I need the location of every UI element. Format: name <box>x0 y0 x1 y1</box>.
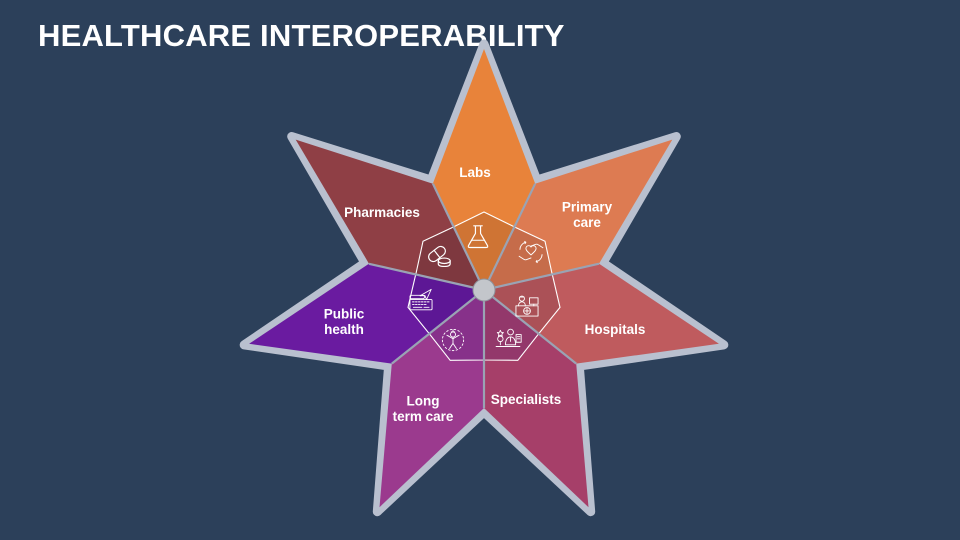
segment-label-pharmacies: Pharmacies <box>344 205 420 220</box>
segment-label-specialists: Specialists <box>491 392 562 407</box>
slide-canvas: HEALTHCARE INTEROPERABILITY <box>0 0 960 540</box>
segment-label-labs: Labs <box>459 165 491 180</box>
star-diagram: LabsPrimarycareHospitalsSpecialistsLongt… <box>0 0 960 540</box>
segment-label-public-health: Publichealth <box>324 306 365 337</box>
segment-label-hospitals: Hospitals <box>585 322 646 337</box>
center-hub <box>473 279 495 301</box>
